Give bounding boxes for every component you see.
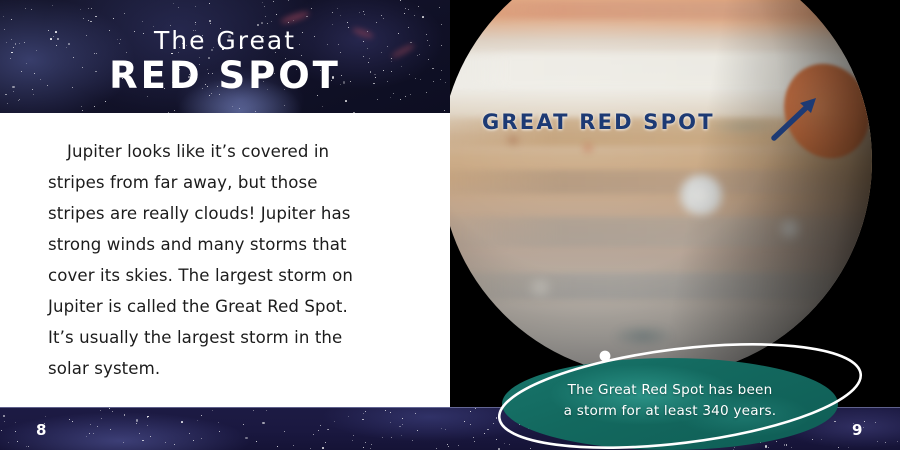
planet-storm-oval [526,278,554,298]
page-title: The Great RED SPOT [0,28,450,94]
book-spread: The Great RED SPOT Jupiter looks like it… [0,0,900,450]
callout-line-2: a storm for at least 340 years. [564,403,777,419]
arrow-icon [770,96,820,142]
fact-callout: The Great Red Spot has been a storm for … [490,340,870,450]
body-panel: Jupiter looks like it’s covered in strip… [0,113,450,407]
article-body-text: Jupiter looks like it’s covered in strip… [48,136,378,384]
planet-band [450,170,872,194]
planet-storm-oval [708,118,778,134]
left-page: The Great RED SPOT Jupiter looks like it… [0,0,450,450]
title-line-2: RED SPOT [0,57,450,94]
planet-band [450,1,872,19]
planet-storm-oval [678,174,724,216]
great-red-spot-label: GREAT RED SPOT [482,110,715,134]
title-line-1: The Great [0,28,450,53]
right-page: GREAT RED SPOT The Great Red Spot has be… [450,0,900,450]
callout-line-1: The Great Red Spot has been [568,382,773,398]
planet-band [450,217,872,247]
jupiter-planet-image [450,0,872,377]
planet-storm-oval [583,144,593,152]
callout-text: The Great Red Spot has been a storm for … [508,380,832,422]
planet-storm-oval [777,217,803,241]
nebula-wisp-icon [280,10,311,26]
planet-storm-oval [505,135,521,145]
page-number-left: 8 [36,421,47,439]
planet-band [450,273,872,299]
